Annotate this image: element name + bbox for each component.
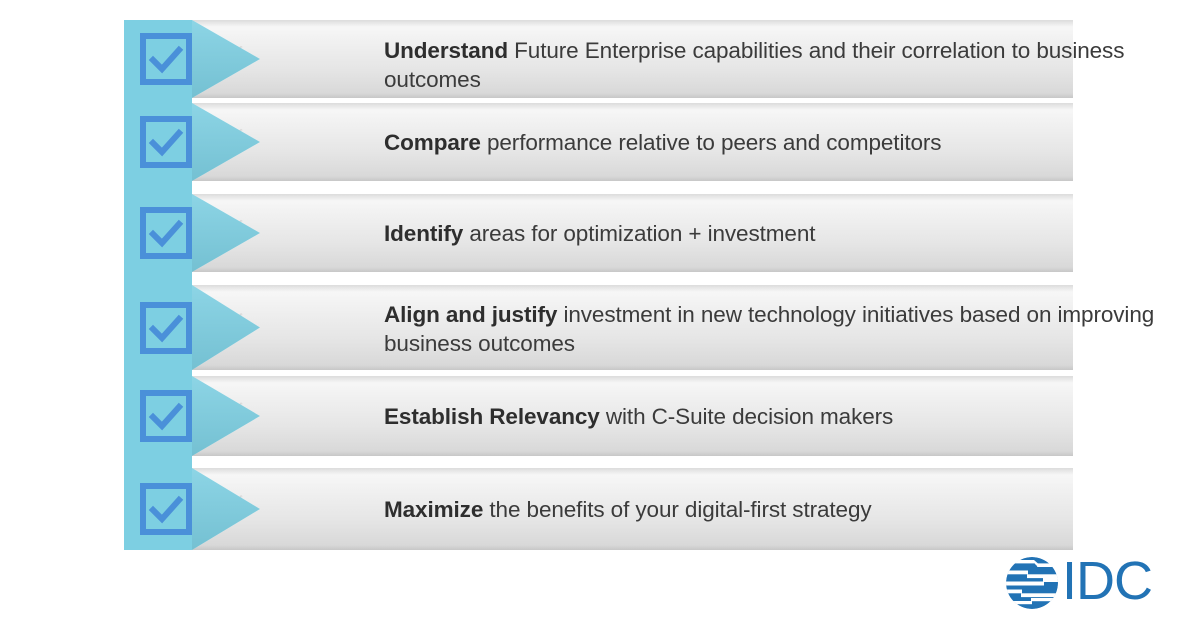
checkbox-checked-icon [140, 390, 192, 442]
row-text: Establish Relevancy with C-Suite decisio… [384, 402, 1174, 431]
row-text: Maximize the benefits of your digital-fi… [384, 495, 1174, 524]
checklist-row[interactable]: Understand Future Enterprise capabilitie… [124, 20, 1073, 98]
row-text: Identify areas for optimization + invest… [384, 219, 1174, 248]
row-rest: performance relative to peers and compet… [481, 130, 942, 155]
row-rest: with C-Suite decision makers [600, 404, 893, 429]
checklist-row[interactable]: Align and justify investment in new tech… [124, 285, 1073, 370]
idc-globe-icon [1004, 555, 1060, 611]
row-lead: Maximize [384, 497, 483, 522]
checklist-row[interactable]: Establish Relevancy with C-Suite decisio… [124, 376, 1073, 456]
row-lead: Compare [384, 130, 481, 155]
row-lead: Understand [384, 38, 508, 63]
row-lead: Align and justify [384, 302, 557, 327]
row-text: Understand Future Enterprise capabilitie… [384, 36, 1174, 94]
row-text: Compare performance relative to peers an… [384, 128, 1174, 157]
checkbox-checked-icon [140, 33, 192, 85]
checkbox-checked-icon [140, 302, 192, 354]
row-rest: the benefits of your digital-first strat… [483, 497, 871, 522]
checklist-row[interactable]: Compare performance relative to peers an… [124, 103, 1073, 181]
checkbox-checked-icon [140, 207, 192, 259]
checkbox-checked-icon [140, 116, 192, 168]
idc-wordmark: IDC [1062, 554, 1180, 612]
row-text: Align and justify investment in new tech… [384, 300, 1184, 358]
benefits-checklist-infographic: Understand Future Enterprise capabilitie… [0, 0, 1200, 628]
row-rest: areas for optimization + investment [463, 221, 815, 246]
row-lead: Establish Relevancy [384, 404, 600, 429]
row-lead: Identify [384, 221, 463, 246]
idc-logo: IDC [1004, 552, 1184, 614]
checklist-row[interactable]: Maximize the benefits of your digital-fi… [124, 468, 1073, 550]
checklist-row[interactable]: Identify areas for optimization + invest… [124, 194, 1073, 272]
svg-text:IDC: IDC [1062, 554, 1152, 611]
checkbox-checked-icon [140, 483, 192, 535]
